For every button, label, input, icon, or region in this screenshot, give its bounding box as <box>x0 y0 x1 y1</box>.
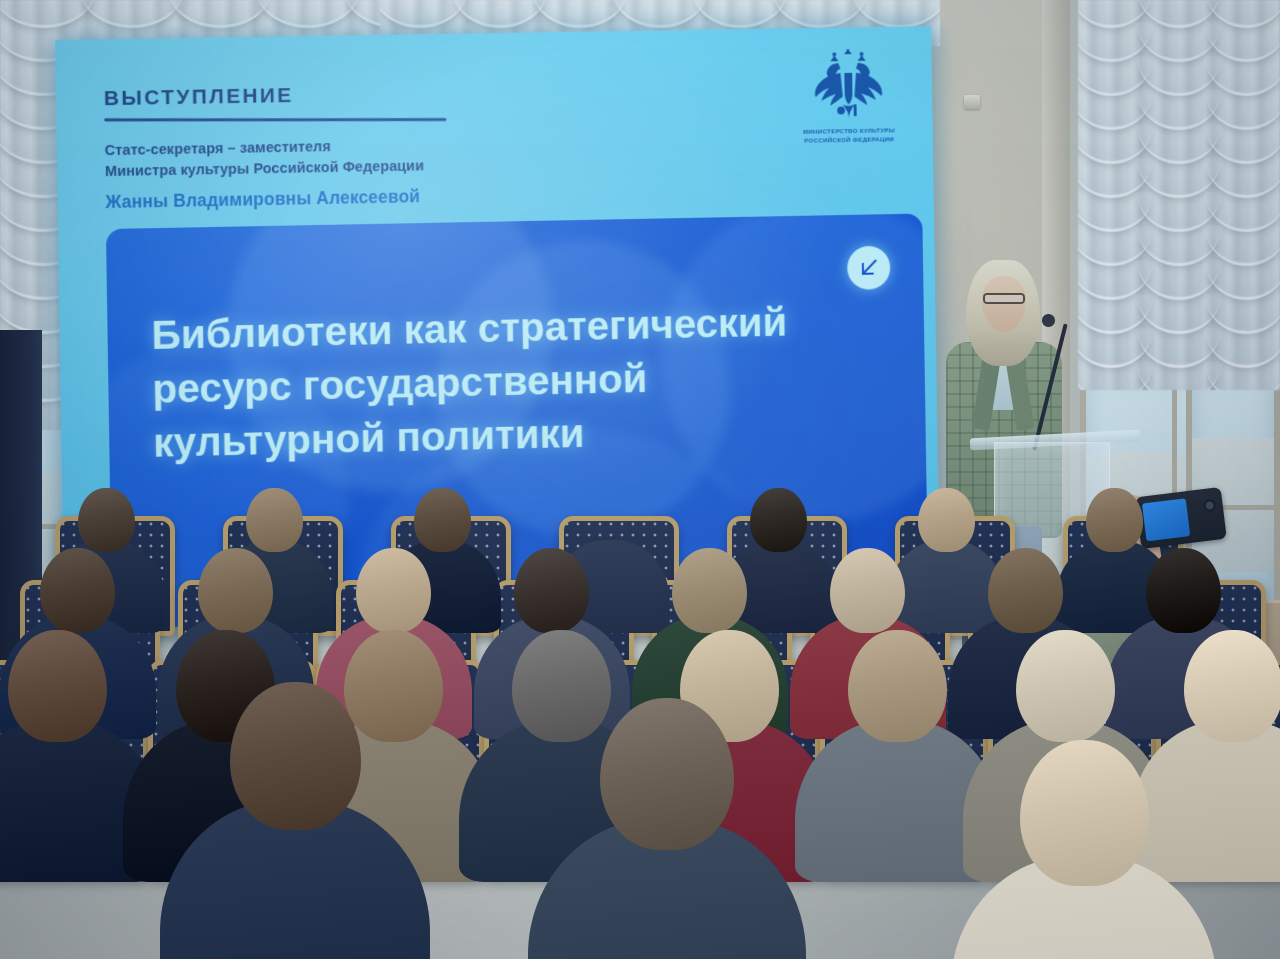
audience-member-head <box>1016 630 1115 742</box>
arrow-down-left-icon <box>857 256 881 280</box>
audience-member-head <box>8 630 107 742</box>
audience-member-head <box>672 548 747 633</box>
emblem-caption: МИНИСТЕРСТВО КУЛЬТУРЫ РОССИЙСКОЙ ФЕДЕРАЦ… <box>787 127 912 147</box>
conference-photo: ВЫСТУПЛЕНИЕ Статс-секретаря – заместител… <box>0 0 1280 959</box>
audience-member-head <box>514 548 589 633</box>
audience-member-head <box>356 548 431 633</box>
audience-member-head <box>1086 488 1143 552</box>
audience-member-head <box>750 488 807 552</box>
audience-member-head <box>1020 740 1149 886</box>
audience-member-head <box>78 488 135 552</box>
slide-header: ВЫСТУПЛЕНИЕ Статс-секретаря – заместител… <box>104 74 895 213</box>
microphone-icon <box>1042 314 1055 327</box>
slide-speaker-name: Жанны Владимировны Алексеевой <box>105 178 895 213</box>
audience-member-head <box>848 630 947 742</box>
audience-member-head <box>344 630 443 742</box>
glasses-icon <box>983 293 1025 304</box>
audience-member-head <box>230 682 361 830</box>
phone-screen <box>1142 498 1190 541</box>
audience-member-head <box>1184 630 1280 742</box>
slide-subtitle: Статс-секретаря – заместителя Министра к… <box>105 127 895 183</box>
audience-member-head <box>830 548 905 633</box>
audience-member-head <box>246 488 303 552</box>
audience-member-head <box>1146 548 1221 633</box>
ministry-emblem: МИНИСТЕРСТВО КУЛЬТУРЫ РОССИЙСКОЙ ФЕДЕРАЦ… <box>786 48 912 147</box>
audience-member-head <box>988 548 1063 633</box>
audience-member-head <box>918 488 975 552</box>
audience-member-head <box>40 548 115 633</box>
slide-eyebrow: ВЫСТУПЛЕНИЕ <box>104 74 894 111</box>
audience-member-head <box>512 630 611 742</box>
audience-member-head <box>198 548 273 633</box>
audience-member-head <box>414 488 471 552</box>
wall-fixture-icon <box>964 95 980 109</box>
smartphone-icon <box>1135 487 1227 549</box>
audience <box>0 430 1280 959</box>
camera-lens-icon <box>1203 499 1216 512</box>
audience-member-head <box>582 488 639 552</box>
header-divider <box>104 118 446 121</box>
audience-member-head <box>600 698 734 850</box>
russian-double-headed-eagle-icon <box>801 48 895 125</box>
curtain-swag <box>1205 362 1280 390</box>
